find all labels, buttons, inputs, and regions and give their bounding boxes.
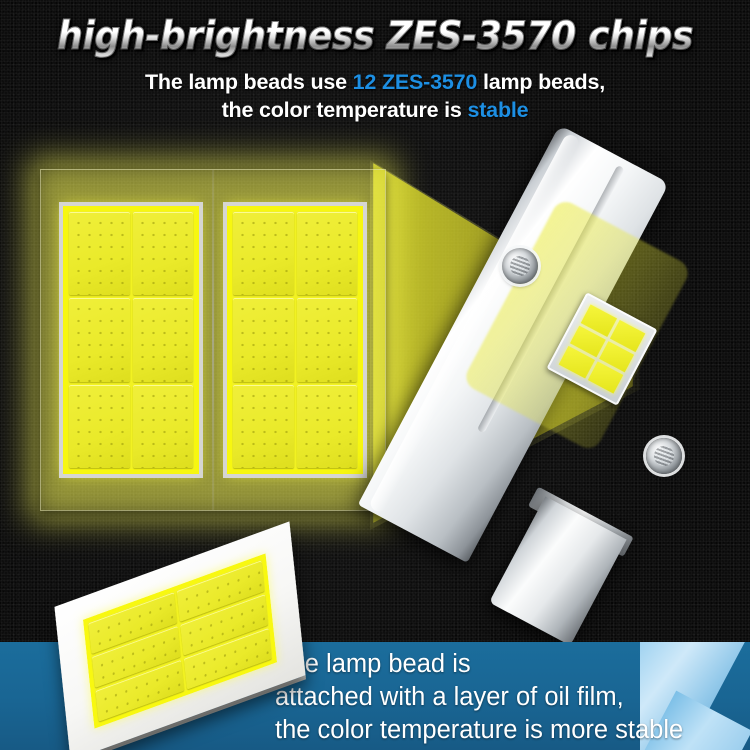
banner-line-3: the color temperature is more stable xyxy=(275,714,745,747)
subtitle-line-1: The lamp beads use 12 ZES-3570 lamp bead… xyxy=(0,70,750,95)
bulb-neck xyxy=(489,496,627,645)
led-chip xyxy=(69,298,130,381)
led-chip xyxy=(69,385,130,468)
banner-text: The lamp bead is attached with a layer o… xyxy=(275,648,745,747)
led-bulb xyxy=(440,120,750,680)
header-section: high-brightness ZES-3570 chips The lamp … xyxy=(0,0,750,140)
led-chip xyxy=(233,212,294,295)
led-chip xyxy=(233,298,294,381)
subtitle-line-1-post: lamp beads, xyxy=(477,70,605,94)
cob-module-right xyxy=(227,206,363,474)
product-marketing-image: high-brightness ZES-3570 chips The lamp … xyxy=(0,0,750,750)
panel-seam xyxy=(212,170,214,510)
led-chip xyxy=(297,298,358,381)
led-chip xyxy=(233,385,294,468)
page-title: high-brightness ZES-3570 chips xyxy=(26,14,724,59)
banner-line-1: The lamp bead is xyxy=(275,648,745,681)
subtitle-highlight-stable: stable xyxy=(467,98,528,122)
subtitle-highlight-model: 12 ZES-3570 xyxy=(353,70,478,94)
led-chip xyxy=(133,385,194,468)
subtitle-line-1-pre: The lamp beads use xyxy=(145,70,353,94)
led-chip xyxy=(297,385,358,468)
subtitle-line-2-pre: the color temperature is xyxy=(222,98,468,122)
led-chip xyxy=(297,212,358,295)
led-chip xyxy=(69,212,130,295)
bulb-screw-bottom xyxy=(646,438,682,474)
magnified-cob-panel xyxy=(41,170,385,510)
led-chip xyxy=(133,212,194,295)
led-chip xyxy=(133,298,194,381)
cob-module-left xyxy=(63,206,199,474)
banner-line-2: attached with a layer of oil film, xyxy=(275,681,745,714)
bulb-screw-top xyxy=(502,248,538,284)
